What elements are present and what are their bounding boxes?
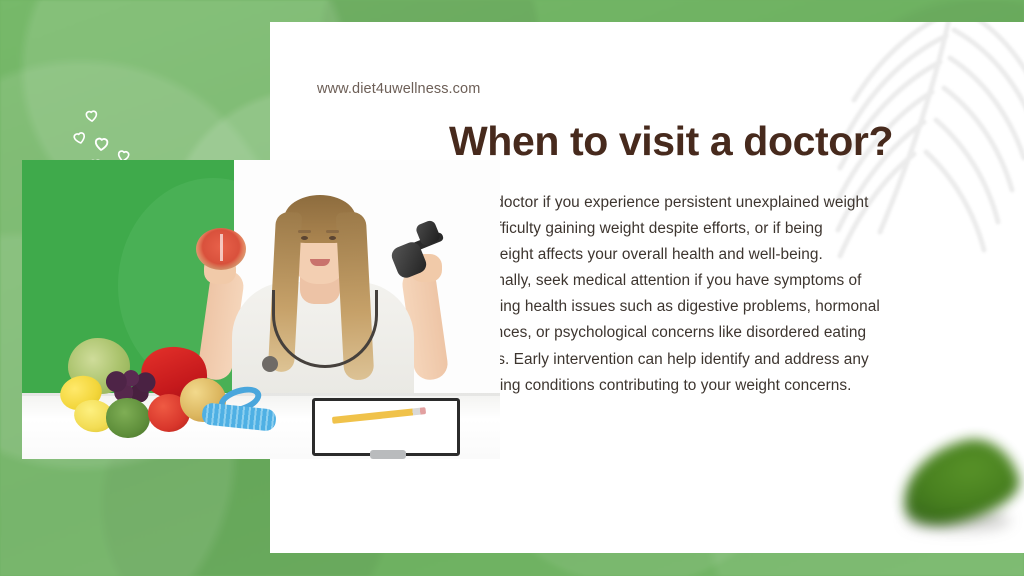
heart-icon	[83, 107, 99, 123]
woman-eyebrow-right	[326, 230, 339, 233]
slide-canvas: www.diet4uwellness.com When to visit a d…	[0, 0, 1024, 576]
heart-icon	[92, 134, 110, 152]
purple-grapes	[106, 368, 158, 402]
woman-eye-right	[329, 236, 336, 240]
woman-eye-left	[301, 236, 308, 240]
woman-eyebrow-left	[298, 230, 311, 233]
site-url-label: www.diet4uwellness.com	[317, 81, 480, 97]
broccoli	[106, 398, 150, 438]
page-title: When to visit a doctor?	[449, 119, 893, 164]
stethoscope-bell-icon	[262, 356, 278, 372]
clipboard	[312, 398, 460, 456]
hero-photo	[22, 160, 500, 459]
grapefruit-half	[196, 228, 246, 270]
heart-icon	[70, 128, 88, 146]
clipboard-clip	[370, 450, 406, 459]
body-paragraph: Visit a doctor if you experience persist…	[449, 190, 884, 399]
